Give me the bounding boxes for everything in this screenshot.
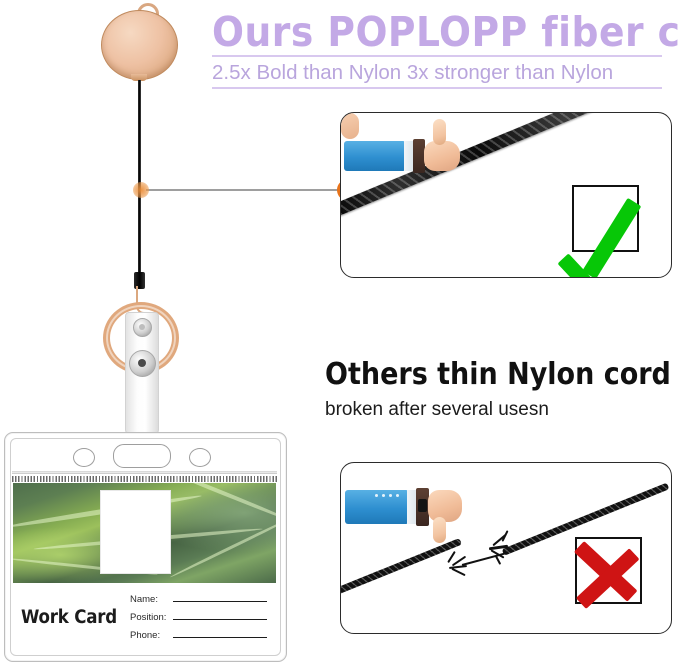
badge-field-line <box>173 592 267 602</box>
strap-rivet-bottom <box>129 350 156 377</box>
badge-zipper-teeth <box>12 476 277 482</box>
badge-punch-hole-right <box>189 448 211 467</box>
thumbs-up-thumb <box>433 119 446 145</box>
badge-reel-body <box>101 10 178 80</box>
thumbs-up-knuckles <box>341 113 359 139</box>
thumbs-down-palm <box>428 490 462 522</box>
badge-field-line <box>173 610 267 620</box>
work-card-label: Work Card <box>21 607 117 628</box>
badge-zipper-rail <box>12 471 277 474</box>
badge-field-line <box>173 628 267 638</box>
comparison-panel-others <box>340 462 672 634</box>
headline-title: Ours POPLOPP fiber cord <box>212 10 679 54</box>
fiber-cord-main <box>138 80 141 276</box>
badge-field-phone: Phone: <box>130 628 267 641</box>
badge-field-position: Position: <box>130 610 267 623</box>
headline-subtitle: 2.5x Bold than Nylon 3x stronger than Ny… <box>212 61 672 85</box>
callout-marker-origin <box>133 182 149 198</box>
badge-field-label: Phone: <box>130 630 173 641</box>
cord-breaking-thread <box>462 552 509 566</box>
others-title: Others thin Nylon cord <box>325 358 675 391</box>
thumbs-down-thumb <box>433 517 446 543</box>
headline-subtitle-underline <box>212 87 662 89</box>
thumbs-up-palm <box>424 141 460 171</box>
thin-nylon-cord-left <box>340 538 462 598</box>
badge-punch-hole-left <box>73 448 95 467</box>
badge-photo-placeholder <box>100 490 171 574</box>
comparison-panel-ours <box>340 112 672 278</box>
others-block: Others thin Nylon cord broken after seve… <box>325 358 675 422</box>
leaf-vein <box>169 514 276 578</box>
badge-field-label: Name: <box>130 594 173 605</box>
badge-slot-center <box>113 444 171 468</box>
callout-connector-line <box>146 189 344 191</box>
watch-face <box>418 499 427 512</box>
badge-field-label: Position: <box>130 612 173 623</box>
headline-block: Ours POPLOPP fiber cord 2.5x Bold than N… <box>212 10 672 89</box>
badge-field-name: Name: <box>130 592 267 605</box>
others-subtitle: broken after several usesn <box>325 398 675 422</box>
strap-rivet-top <box>133 318 152 337</box>
thumbs-up-sleeve <box>344 141 406 171</box>
